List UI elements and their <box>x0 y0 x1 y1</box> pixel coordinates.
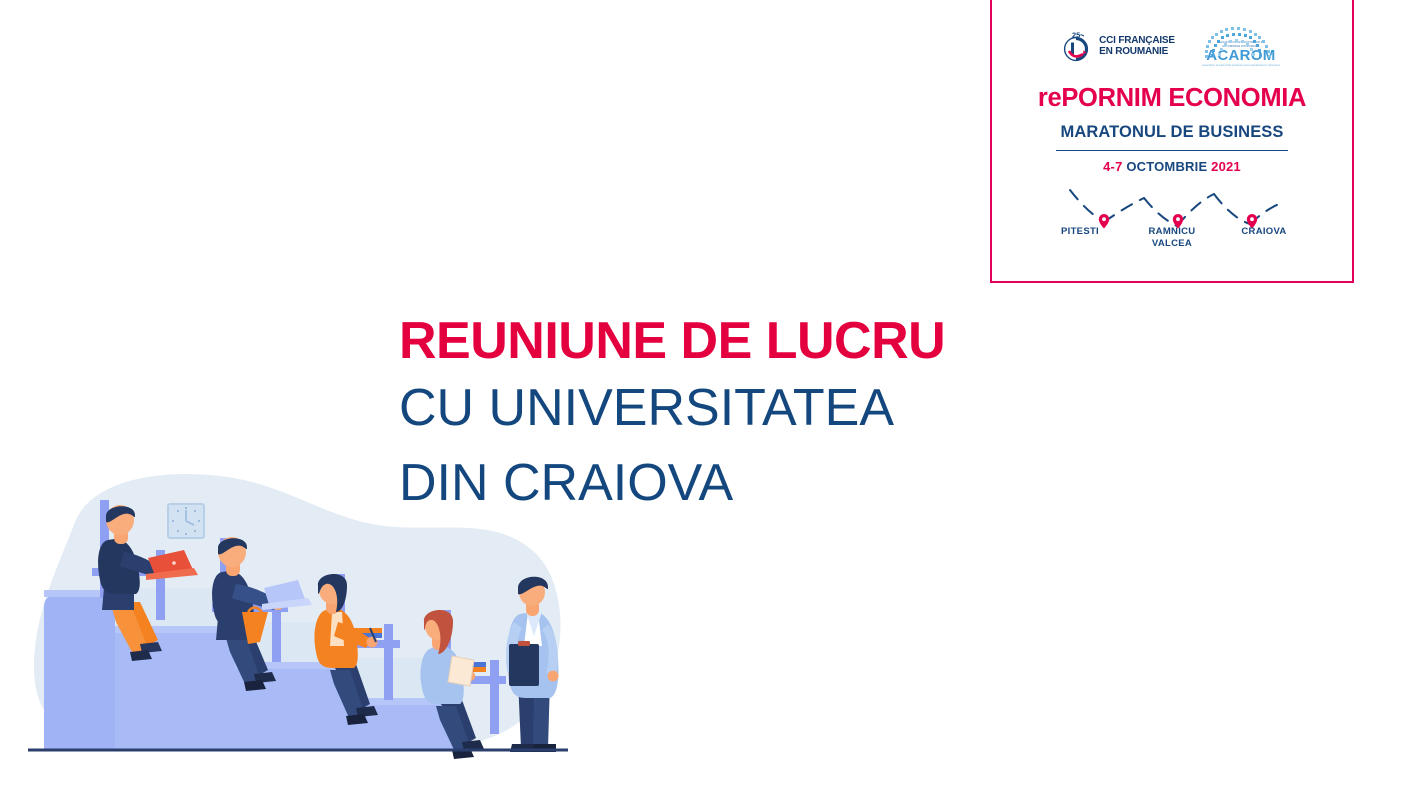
route-city-labels: PITESTI RAMNICUVALCEA CRAIOVA <box>992 226 1352 250</box>
card-date-year: 2021 <box>1211 159 1241 174</box>
route-city-craiova: CRAIOVA <box>1218 226 1310 250</box>
card-subhead: MARATONUL DE BUSINESS <box>992 123 1352 142</box>
card-route-map: PITESTI RAMNICUVALCEA CRAIOVA <box>992 178 1352 258</box>
cci-logo-line2: EN ROUMANIE <box>1099 46 1175 57</box>
card-date-month: OCTOMBRIE <box>1126 159 1207 174</box>
acarom-fan-icon <box>1199 25 1283 67</box>
card-date: 4-7 OCTOMBRIE 2021 <box>992 159 1352 174</box>
title-line-2: CU UNIVERSITATEA <box>399 371 1099 446</box>
cci-francaise-logo: 25 CCI FRANÇAISE EN ROUMANIE <box>1061 29 1175 63</box>
students-illustration <box>20 462 590 762</box>
card-date-days: 4-7 <box>1103 159 1122 174</box>
route-city-ramnicu-valcea: RAMNICUVALCEA <box>1126 226 1218 250</box>
card-logos-row: 25 CCI FRANÇAISE EN ROUMANIE <box>992 24 1352 68</box>
title-line-1: REUNIUNE DE LUCRU <box>399 312 1099 371</box>
acarom-logo: ASOCIATIA CONSTRUCTORILOR DE AUTOMOBILE … <box>1199 25 1283 67</box>
card-divider <box>1056 150 1288 151</box>
wall-clock-icon <box>168 504 204 538</box>
cci-c-monogram-icon: 25 <box>1061 29 1095 63</box>
cci-logo-line1: CCI FRANÇAISE <box>1099 35 1175 46</box>
route-city-pitesti: PITESTI <box>1034 226 1126 250</box>
event-badge-card: 25 CCI FRANÇAISE EN ROUMANIE <box>990 0 1354 283</box>
card-headline: rePORNIM ECONOMIA <box>992 84 1352 113</box>
cci-logo-text: CCI FRANÇAISE EN ROUMANIE <box>1099 35 1175 57</box>
svg-text:25: 25 <box>1072 31 1080 40</box>
